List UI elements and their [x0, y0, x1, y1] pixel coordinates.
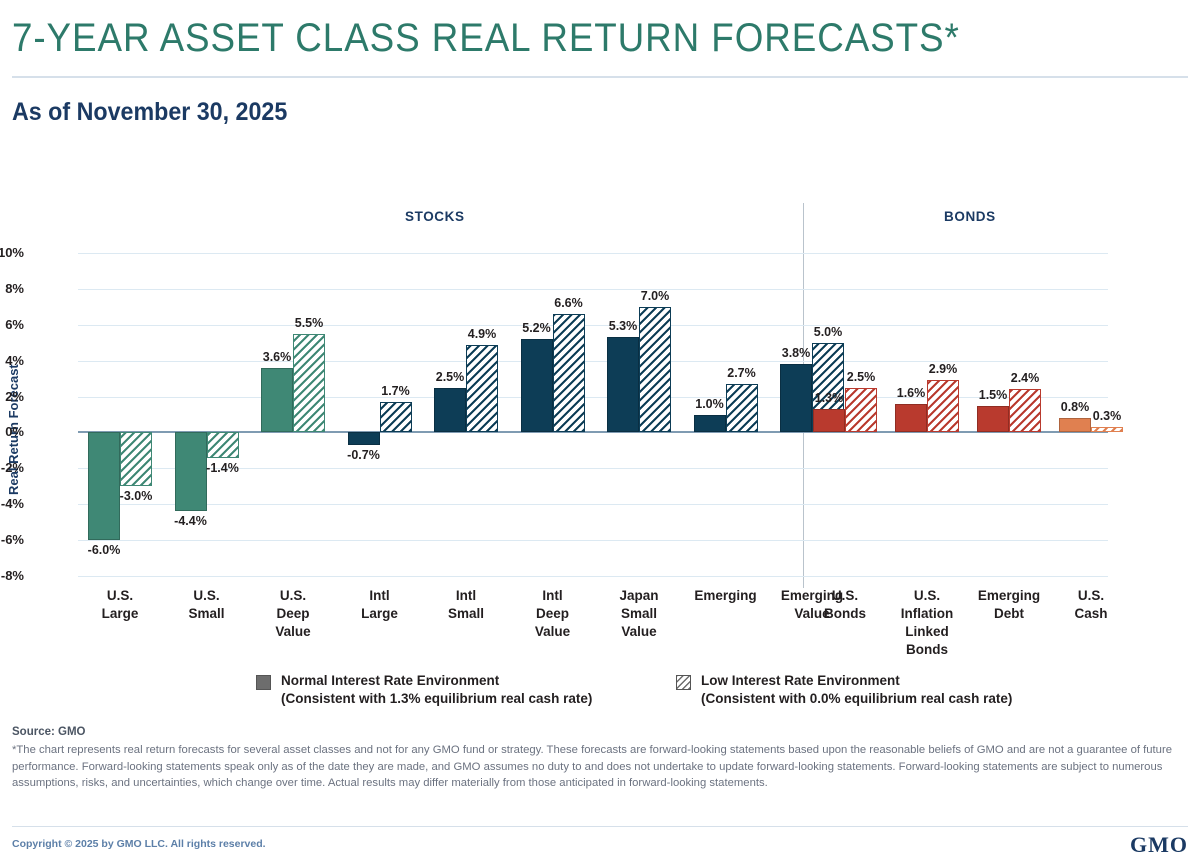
bar-low[interactable] [639, 307, 671, 433]
x-label-line: Small [188, 606, 224, 621]
x-label-line: Value [621, 624, 656, 639]
x-label-line: Debt [994, 606, 1024, 621]
bar-normal[interactable] [694, 415, 726, 433]
y-axis-tick: -2% [1, 460, 24, 475]
bar-value-label: -4.4% [159, 514, 223, 528]
bar-value-label: 2.7% [710, 366, 774, 380]
y-axis-tick: 6% [5, 317, 24, 332]
x-label-line: U.S. [280, 588, 306, 603]
bar-value-label: 7.0% [623, 289, 687, 303]
disclaimer-text: *The chart represents real return foreca… [12, 742, 1188, 792]
legend-low-line1: Low Interest Rate Environment [701, 673, 900, 688]
x-label-line: Bonds [906, 642, 948, 657]
x-label-line: Bonds [824, 606, 866, 621]
x-axis-category-label: IntlSmall [418, 587, 514, 623]
plot-area: 10%8%6%4%2%0%-2%-4%-6%-8%-6.0%-3.0%-4.4%… [78, 253, 1108, 576]
x-label-line: Value [535, 624, 570, 639]
section-header-stocks: STOCKS [405, 209, 465, 224]
bar-normal[interactable] [521, 339, 553, 432]
bar-value-label: 2.4% [993, 371, 1057, 385]
bar-group: -4.4%-1.4% [175, 253, 239, 576]
bar-normal[interactable] [88, 432, 120, 540]
x-label-line: Deep [276, 606, 309, 621]
x-axis-category-label: U.S.Cash [1043, 587, 1139, 623]
bar-value-label: 2.5% [829, 370, 893, 384]
x-axis-category-label: IntlLarge [332, 587, 428, 623]
bar-value-label: -3.0% [104, 489, 168, 503]
bar-group: 1.6%2.9% [895, 253, 959, 576]
solid-gray-swatch-icon [256, 675, 271, 690]
legend-normal-line2: (Consistent with 1.3% equilibrium real c… [281, 691, 592, 706]
x-label-line: U.S. [193, 588, 219, 603]
x-label-line: Intl [369, 588, 389, 603]
source-note: Source: GMO [12, 726, 85, 738]
y-axis-tick: 8% [5, 281, 24, 296]
bar-low[interactable] [927, 380, 959, 432]
bar-normal[interactable] [607, 337, 639, 432]
bar-group: 2.5%4.9% [434, 253, 498, 576]
bar-value-label: -0.7% [332, 448, 396, 462]
x-label-line: Emerging [694, 588, 756, 603]
legend-normal-line1: Normal Interest Rate Environment [281, 673, 499, 688]
bar-value-label: 2.9% [911, 362, 975, 376]
bar-low[interactable] [1091, 427, 1123, 432]
y-axis-tick: 2% [5, 389, 24, 404]
x-axis-category-label: U.S.Small [159, 587, 255, 623]
bar-normal[interactable] [348, 432, 380, 445]
x-axis-category-label: JapanSmallValue [591, 587, 687, 641]
bar-group: 5.2%6.6% [521, 253, 585, 576]
x-axis-category-label: Emerging [678, 587, 774, 605]
bar-normal[interactable] [895, 404, 927, 433]
bar-low[interactable] [726, 384, 758, 432]
bar-group: -0.7%1.7% [348, 253, 412, 576]
x-label-line: U.S. [1078, 588, 1104, 603]
x-label-line: U.S. [832, 588, 858, 603]
hatched-gray-swatch-icon [676, 675, 691, 690]
legend-item-low: Low Interest Rate Environment (Consisten… [676, 672, 1012, 708]
bar-normal[interactable] [813, 409, 845, 432]
x-label-line: Intl [542, 588, 562, 603]
x-label-line: Value [275, 624, 310, 639]
bar-group: 0.8%0.3% [1059, 253, 1123, 576]
section-header-bonds: BONDS [944, 209, 996, 224]
x-label-line: Intl [456, 588, 476, 603]
legend-low-line2: (Consistent with 0.0% equilibrium real c… [701, 691, 1012, 706]
return-forecast-bar-chart: STOCKS BONDS Real Return Forecast 10%8%6… [0, 195, 1200, 665]
y-axis-tick: 4% [5, 353, 24, 368]
bar-low[interactable] [380, 402, 412, 433]
chart-legend: Normal Interest Rate Environment (Consis… [0, 672, 1200, 720]
bar-normal[interactable] [977, 406, 1009, 433]
bar-low[interactable] [120, 432, 152, 486]
bar-value-label: 1.7% [364, 384, 428, 398]
bar-group: 5.3%7.0% [607, 253, 671, 576]
bar-normal[interactable] [434, 388, 466, 433]
x-label-line: Inflation [901, 606, 954, 621]
bar-normal[interactable] [261, 368, 293, 433]
x-label-line: Large [361, 606, 398, 621]
x-axis-category-label: IntlDeepValue [505, 587, 601, 641]
bar-low[interactable] [293, 334, 325, 433]
x-label-line: U.S. [914, 588, 940, 603]
bar-value-label: 0.3% [1075, 409, 1139, 423]
bar-low[interactable] [466, 345, 498, 433]
legend-item-normal: Normal Interest Rate Environment (Consis… [256, 672, 592, 708]
x-label-line: Small [448, 606, 484, 621]
bar-group: 1.5%2.4% [977, 253, 1041, 576]
y-axis-tick: -8% [1, 568, 24, 583]
bar-low[interactable] [207, 432, 239, 457]
x-label-line: U.S. [107, 588, 133, 603]
bar-value-label: -6.0% [72, 543, 136, 557]
x-axis-category-label: U.S.Large [72, 587, 168, 623]
copyright-note: Copyright © 2025 by GMO LLC. All rights … [12, 838, 266, 850]
title-divider [12, 76, 1188, 78]
x-label-line: Cash [1074, 606, 1107, 621]
bar-low[interactable] [845, 388, 877, 433]
x-label-line: Large [102, 606, 139, 621]
bar-group: 3.6%5.5% [261, 253, 325, 576]
y-axis-tick: -4% [1, 496, 24, 511]
bar-value-label: 5.5% [277, 316, 341, 330]
bar-value-label: -1.4% [191, 461, 255, 475]
bar-group: 1.0%2.7% [694, 253, 758, 576]
page-subtitle: As of November 30, 2025 [12, 98, 287, 127]
bar-group: 1.3%2.5% [813, 253, 877, 576]
legend-normal-text: Normal Interest Rate Environment (Consis… [281, 672, 592, 708]
gmo-logo: GMO [1130, 832, 1188, 858]
bar-low[interactable] [1009, 389, 1041, 432]
y-axis-tick: -6% [1, 532, 24, 547]
bar-group: -6.0%-3.0% [88, 253, 152, 576]
x-axis-category-label: U.S.DeepValue [245, 587, 341, 641]
page-title: 7-YEAR ASSET CLASS REAL RETURN FORECASTS… [12, 16, 960, 61]
bar-low[interactable] [553, 314, 585, 432]
x-label-line: Linked [905, 624, 949, 639]
bar-value-label: 6.6% [537, 296, 601, 310]
gridline [78, 576, 1108, 577]
x-label-line: Small [621, 606, 657, 621]
y-axis-tick: 0% [5, 424, 24, 439]
legend-low-text: Low Interest Rate Environment (Consisten… [701, 672, 1012, 708]
x-label-line: Japan [619, 588, 658, 603]
y-axis-tick: 10% [0, 245, 24, 260]
footer-divider [12, 826, 1188, 827]
x-label-line: Deep [536, 606, 569, 621]
x-label-line: Emerging [978, 588, 1040, 603]
